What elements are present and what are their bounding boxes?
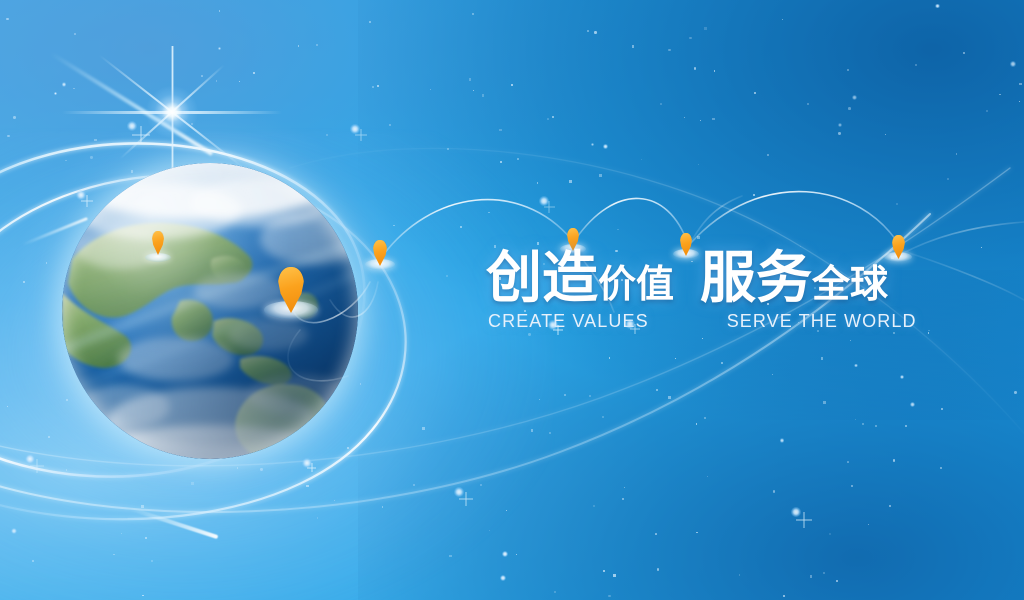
headline-phrase-1: 创造 价值	[486, 250, 674, 306]
headline: 创造 价值 服务 全球	[486, 250, 888, 306]
headline-secondary-1: 价值	[598, 266, 674, 304]
headline-phrase-2: 服务 全球	[700, 250, 888, 306]
subtitle-serve-the-world: SERVE THE WORLD	[727, 311, 917, 332]
subtitle-row: CREATE VALUES SERVE THE WORLD	[488, 311, 917, 332]
subtitle-create-values: CREATE VALUES	[488, 311, 649, 332]
subtitle-gap	[649, 311, 727, 332]
headline-primary-2: 服务	[700, 250, 812, 306]
headline-secondary-2: 全球	[812, 266, 888, 304]
banner-canvas: 创造 价值 服务 全球 CREATE VALUES SERVE THE WORL…	[0, 0, 1024, 600]
headline-primary-1: 创造	[486, 250, 598, 306]
